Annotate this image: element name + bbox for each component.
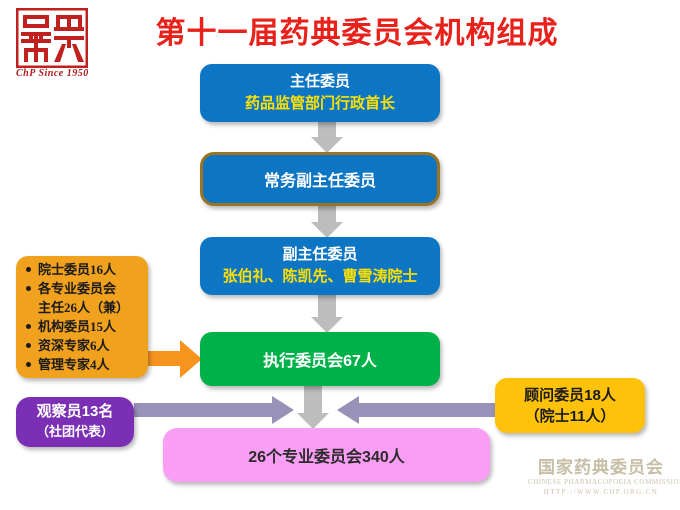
node-executive-vice-chairman[interactable]: 常务副主任委员 <box>200 152 440 206</box>
node-advisors-title: 顾问委员18人 <box>524 385 616 406</box>
node-observers-title: 观察员13名 <box>37 402 114 422</box>
page-title: 第十一届药典委员会机构组成 <box>112 15 602 53</box>
node-executive-committee-title: 执行委员会67人 <box>263 347 377 371</box>
arrow-shaft <box>304 386 322 413</box>
watermark-url: HTTP://WWW.CHP.ORG.CN <box>528 487 674 497</box>
arrow-observers-to-professional-committees <box>134 396 294 424</box>
node-chairman[interactable]: 主任委员 药品监管部门行政首长 <box>200 64 440 122</box>
chinese-pharmacopoeia-logo: ChP Since 1950 <box>16 8 100 84</box>
arrow-executive-committee-to-professional-committees <box>296 386 330 429</box>
node-vice-chairman-names: 张伯礼、陈凯先、曹雪涛院士 <box>222 266 417 288</box>
arrow-executive-vice-chairman-to-vice-chairman <box>311 206 343 238</box>
arrow-shaft <box>357 403 497 417</box>
node-chairman-title: 主任委员 <box>290 71 350 93</box>
chinese-pharmacopoeia-seal-icon <box>16 8 88 68</box>
node-observers-subtitle: （社团代表） <box>36 422 114 442</box>
arrow-advisors-to-professional-committees <box>337 396 497 424</box>
node-chairman-subtitle: 药品监管部门行政首长 <box>245 93 395 115</box>
list-item: 管理专家4人 <box>38 355 145 374</box>
arrow-head-down-icon <box>311 222 343 238</box>
arrow-shaft <box>318 206 336 222</box>
node-vice-chairman-title: 副主任委员 <box>282 244 357 266</box>
list-item: 院士委员16人 <box>38 260 145 279</box>
node-professional-committees[interactable]: 26个专业委员会340人 <box>163 428 490 482</box>
arrow-head-down-icon <box>297 413 329 429</box>
arrow-vice-chairman-to-executive-committee <box>311 295 343 333</box>
watermark-organization-name-en: CHINESE PHARMACOPOEIA COMMISSION <box>528 477 674 487</box>
list-item: 资深专家6人 <box>38 336 145 355</box>
arrow-head-right-icon <box>180 340 202 378</box>
watermark-organization-name: 国家药典委员会 <box>528 458 674 477</box>
list-item: 各专业委员会 主任26人（兼） <box>38 279 145 317</box>
logo-caption: ChP Since 1950 <box>16 68 96 79</box>
node-vice-chairman[interactable]: 副主任委员 张伯礼、陈凯先、曹雪涛院士 <box>200 237 440 295</box>
arrow-shaft <box>148 351 182 366</box>
arrow-head-left-icon <box>337 396 359 424</box>
arrow-head-down-icon <box>311 137 343 153</box>
node-advisors-subtitle: （院士11人） <box>525 406 616 427</box>
watermark: 国家药典委员会 CHINESE PHARMACOPOEIA COMMISSION… <box>528 458 674 497</box>
arrow-shaft <box>318 295 336 317</box>
arrow-chairman-to-executive-vice-chairman <box>311 122 343 153</box>
node-executive-vice-chairman-title: 常务副主任委员 <box>264 167 376 191</box>
arrow-composition-to-executive-committee <box>148 340 202 378</box>
node-executive-committee[interactable]: 执行委员会67人 <box>200 332 440 386</box>
node-executive-committee-composition[interactable]: 院士委员16人 各专业委员会 主任26人（兼） 机构委员15人 资深专家6人 管… <box>16 256 148 378</box>
composition-list: 院士委员16人 各专业委员会 主任26人（兼） 机构委员15人 资深专家6人 管… <box>22 260 145 374</box>
node-professional-committees-title: 26个专业委员会340人 <box>248 443 405 467</box>
node-observers[interactable]: 观察员13名 （社团代表） <box>16 397 134 447</box>
node-advisors[interactable]: 顾问委员18人 （院士11人） <box>495 378 645 433</box>
arrow-head-right-icon <box>272 396 294 424</box>
arrow-shaft <box>318 122 336 137</box>
arrow-head-down-icon <box>311 317 343 333</box>
list-item: 机构委员15人 <box>38 317 145 336</box>
arrow-shaft <box>134 403 274 417</box>
